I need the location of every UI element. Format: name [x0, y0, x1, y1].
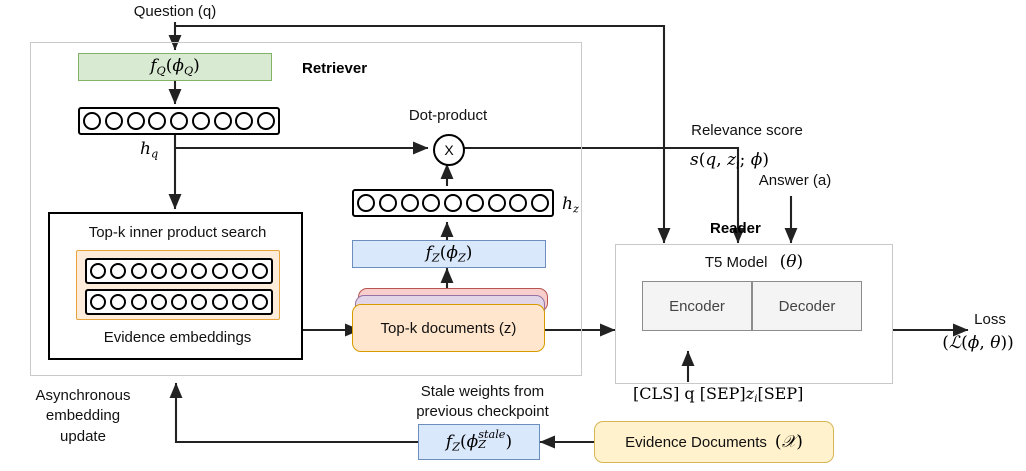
- vector-cell: [127, 112, 145, 130]
- async-update-label: Asynchronous embedding update: [8, 386, 158, 447]
- vector-cell: [214, 112, 232, 130]
- vector-cell: [110, 294, 126, 310]
- async-line-3: update: [60, 428, 106, 445]
- diagram-canvas: Question (q) Retriever Reader Dot-produc…: [0, 0, 1026, 471]
- relevance-score-formula: s(q, zi; ϕ): [690, 150, 769, 172]
- t5-theta: (θ): [780, 252, 804, 272]
- fz-stale-box[interactable]: fZ(ϕstaleZ): [418, 424, 540, 460]
- vector-cell: [422, 194, 440, 212]
- vector-cell: [232, 294, 248, 310]
- vector-cell: [531, 194, 549, 212]
- async-line-1: Asynchronous: [35, 387, 130, 404]
- vector-cell: [232, 263, 248, 279]
- topk-documents-label: Top-k documents (z): [381, 320, 517, 337]
- reader-input-tokens: [CLS] q [SEP]zi[SEP]: [633, 384, 803, 406]
- fq-encoder-box[interactable]: fQ(ϕQ): [78, 53, 272, 81]
- vector-cell: [170, 112, 188, 130]
- vector-cell: [191, 294, 207, 310]
- decoder-box[interactable]: Decoder: [752, 281, 862, 331]
- vector-cell: [357, 194, 375, 212]
- vector-cell: [444, 194, 462, 212]
- loss-label: Loss: [955, 311, 1025, 329]
- vector-cell: [191, 263, 207, 279]
- vector-cell: [212, 263, 228, 279]
- stale-line-1: Stale weights from: [421, 383, 544, 400]
- vector-cell: [131, 263, 147, 279]
- vector-cell: [192, 112, 210, 130]
- reader-label: Reader: [710, 220, 761, 238]
- t5-model-label: T5 Model (θ): [615, 252, 893, 273]
- vector-cell: [488, 194, 506, 212]
- vector-cell: [235, 112, 253, 130]
- vector-cell: [90, 263, 106, 279]
- vector-cell: [83, 112, 101, 130]
- vector-cell: [379, 194, 397, 212]
- dot-product-label: Dot-product: [388, 107, 508, 125]
- vector-cell: [252, 294, 268, 310]
- async-line-2: embedding: [46, 407, 120, 424]
- vector-cell: [90, 294, 106, 310]
- vector-cell: [212, 294, 228, 310]
- hq-vector: [78, 107, 280, 135]
- dot-product-symbol: X: [444, 142, 453, 158]
- topk-search-title: Top-k inner product search: [50, 224, 305, 242]
- topk-documents-box[interactable]: Top-k documents (z): [352, 304, 545, 352]
- vector-cell: [110, 263, 126, 279]
- loss-formula: (ℒ(ϕ, θ)): [930, 333, 1026, 354]
- decoder-label: Decoder: [779, 298, 836, 315]
- vector-cell: [171, 263, 187, 279]
- relevance-score-label: Relevance score: [672, 122, 822, 140]
- vector-cell: [105, 112, 123, 130]
- fz-formula: fZ(ϕZ): [426, 243, 473, 264]
- vector-cell: [257, 112, 275, 130]
- vector-cell: [252, 263, 268, 279]
- vector-cell: [466, 194, 484, 212]
- evidence-embedding-row: [85, 289, 273, 315]
- evidence-documents-symbol: (𝒳): [775, 432, 803, 452]
- fq-formula: fQ(ϕQ): [150, 56, 200, 77]
- stale-weights-label: Stale weights from previous checkpoint: [355, 382, 610, 423]
- evidence-documents-box[interactable]: Evidence Documents (𝒳): [594, 421, 834, 463]
- fz-encoder-box[interactable]: fZ(ϕZ): [352, 240, 546, 268]
- dot-product-node[interactable]: X: [433, 134, 465, 166]
- topk-search-box[interactable]: Top-k inner product search: [48, 212, 303, 360]
- stale-line-2: previous checkpoint: [416, 403, 549, 420]
- evidence-embedding-row: [85, 258, 273, 284]
- encoder-label: Encoder: [669, 298, 725, 315]
- hz-label: hz: [562, 194, 579, 216]
- evidence-documents-label: Evidence Documents: [625, 434, 767, 451]
- encoder-box[interactable]: Encoder: [642, 281, 752, 331]
- answer-label: Answer (a): [740, 172, 850, 190]
- vector-cell: [401, 194, 419, 212]
- hz-vector: [352, 189, 554, 217]
- t5-model-text: T5 Model: [705, 254, 768, 271]
- evidence-embeddings-panel: [76, 250, 280, 320]
- evidence-embeddings-label: Evidence embeddings: [50, 329, 305, 347]
- question-label: Question (q): [105, 3, 245, 21]
- vector-cell: [171, 294, 187, 310]
- vector-cell: [151, 294, 167, 310]
- vector-cell: [131, 294, 147, 310]
- fz-stale-formula: fZ(ϕstaleZ): [446, 430, 512, 453]
- vector-cell: [151, 263, 167, 279]
- vector-cell: [509, 194, 527, 212]
- hq-label: hq: [140, 139, 158, 161]
- vector-cell: [148, 112, 166, 130]
- retriever-label: Retriever: [302, 60, 367, 78]
